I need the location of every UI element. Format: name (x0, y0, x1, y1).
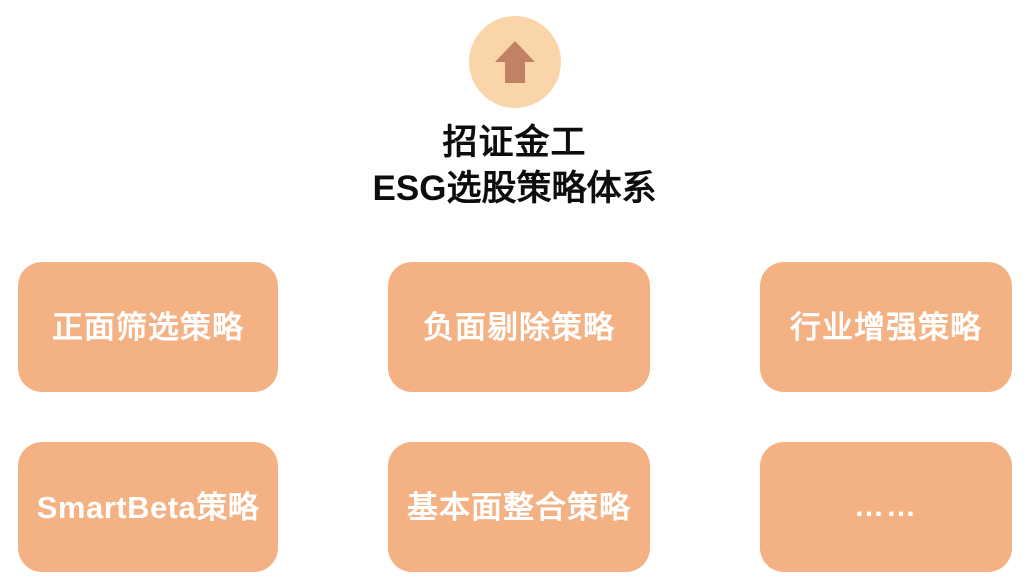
strategy-label: 负面剔除策略 (423, 312, 615, 343)
strategy-row-2: SmartBeta策略 基本面整合策略 …… (18, 442, 1012, 572)
strategy-label: 行业增强策略 (790, 312, 982, 343)
strategy-grid: 正面筛选策略 负面剔除策略 行业增强策略 SmartBeta策略 基本面整合策略… (18, 262, 1012, 570)
strategy-label: 正面筛选策略 (52, 312, 244, 343)
strategy-box-negative-exclusion[interactable]: 负面剔除策略 (388, 262, 650, 392)
strategy-row-1: 正面筛选策略 负面剔除策略 行业增强策略 (18, 262, 1012, 392)
logo-circle (469, 16, 561, 108)
strategy-box-positive-screening[interactable]: 正面筛选策略 (18, 262, 278, 392)
strategy-label: …… (854, 492, 918, 522)
strategy-box-industry-enhancement[interactable]: 行业增强策略 (760, 262, 1012, 392)
strategy-box-smartbeta[interactable]: SmartBeta策略 (18, 442, 278, 572)
page-subtitle: ESG选股策略体系 (0, 166, 1029, 212)
header: 招证金工 ESG选股策略体系 (0, 0, 1029, 232)
up-arrow-icon (493, 39, 537, 85)
strategy-label: 基本面整合策略 (407, 492, 631, 523)
slide-canvas: 招证金工 ESG选股策略体系 正面筛选策略 负面剔除策略 行业增强策略 Smar… (0, 0, 1029, 582)
title-block: 招证金工 ESG选股策略体系 (0, 122, 1029, 212)
strategy-box-more[interactable]: …… (760, 442, 1012, 572)
page-title: 招证金工 (0, 122, 1029, 164)
strategy-box-fundamental-integration[interactable]: 基本面整合策略 (388, 442, 650, 572)
strategy-label: SmartBeta策略 (37, 492, 260, 523)
